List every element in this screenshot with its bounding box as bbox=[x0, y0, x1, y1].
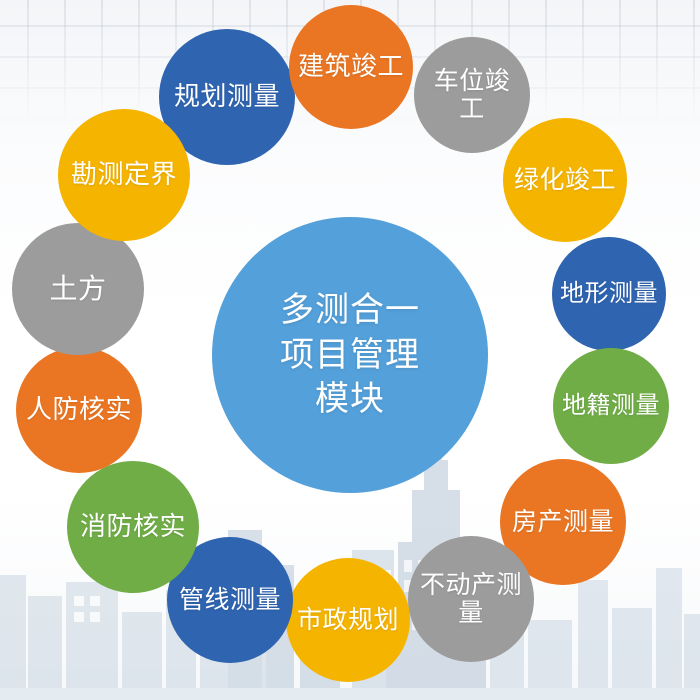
bubble-budongchan[interactable]: 不动产测量 bbox=[408, 536, 534, 662]
bubble-dixing-celiang[interactable]: 地形测量 bbox=[552, 237, 666, 351]
bubble-lvhua-jungong[interactable]: 绿化竣工 bbox=[503, 118, 627, 242]
bubble-label: 地形测量 bbox=[560, 280, 658, 307]
bubble-tufang[interactable]: 土方 bbox=[12, 223, 144, 355]
bubble-jianzhu-jungong[interactable]: 建筑竣工 bbox=[289, 5, 413, 129]
bubble-cheweijungong[interactable]: 车位竣工 bbox=[414, 37, 530, 153]
bubble-label: 不动产测量 bbox=[417, 571, 525, 628]
bubble-label: 车位竣工 bbox=[422, 67, 522, 124]
bubble-shizheng-guihua[interactable]: 市政规划 bbox=[286, 558, 410, 682]
bubble-label: 勘测定界 bbox=[67, 160, 181, 190]
bubble-label: 土方 bbox=[21, 273, 135, 305]
center-hub[interactable]: 多测合一 项目管理 模块 bbox=[212, 217, 488, 493]
bubble-label: 房产测量 bbox=[509, 508, 617, 537]
center-hub-line-1: 多测合一 bbox=[280, 291, 420, 329]
bubble-label: 绿化竣工 bbox=[512, 166, 619, 195]
bubble-label: 规划测量 bbox=[169, 82, 286, 112]
bubble-kance-dingjie[interactable]: 勘测定界 bbox=[58, 109, 190, 241]
center-hub-label: 多测合一 项目管理 模块 bbox=[237, 288, 463, 423]
bubble-label: 人防核实 bbox=[25, 395, 133, 425]
bubble-label: 地籍测量 bbox=[561, 392, 661, 419]
bubble-label: 管线测量 bbox=[176, 586, 284, 615]
diagram-canvas: 多测合一 项目管理 模块 规划测量建筑竣工车位竣工绿化竣工地形测量地籍测量房产测… bbox=[0, 0, 700, 700]
bubble-label: 建筑竣工 bbox=[298, 52, 405, 82]
center-hub-line-2: 项目管理 bbox=[280, 336, 420, 374]
center-hub-line-3: 模块 bbox=[315, 380, 385, 418]
bubble-diji-celiang[interactable]: 地籍测量 bbox=[553, 348, 669, 464]
bubble-label: 市政规划 bbox=[295, 606, 402, 635]
bubble-label: 消防核实 bbox=[76, 512, 190, 542]
bubble-renfang-heshi[interactable]: 人防核实 bbox=[16, 347, 142, 473]
bubble-xiaofang-heshi[interactable]: 消防核实 bbox=[67, 461, 199, 593]
